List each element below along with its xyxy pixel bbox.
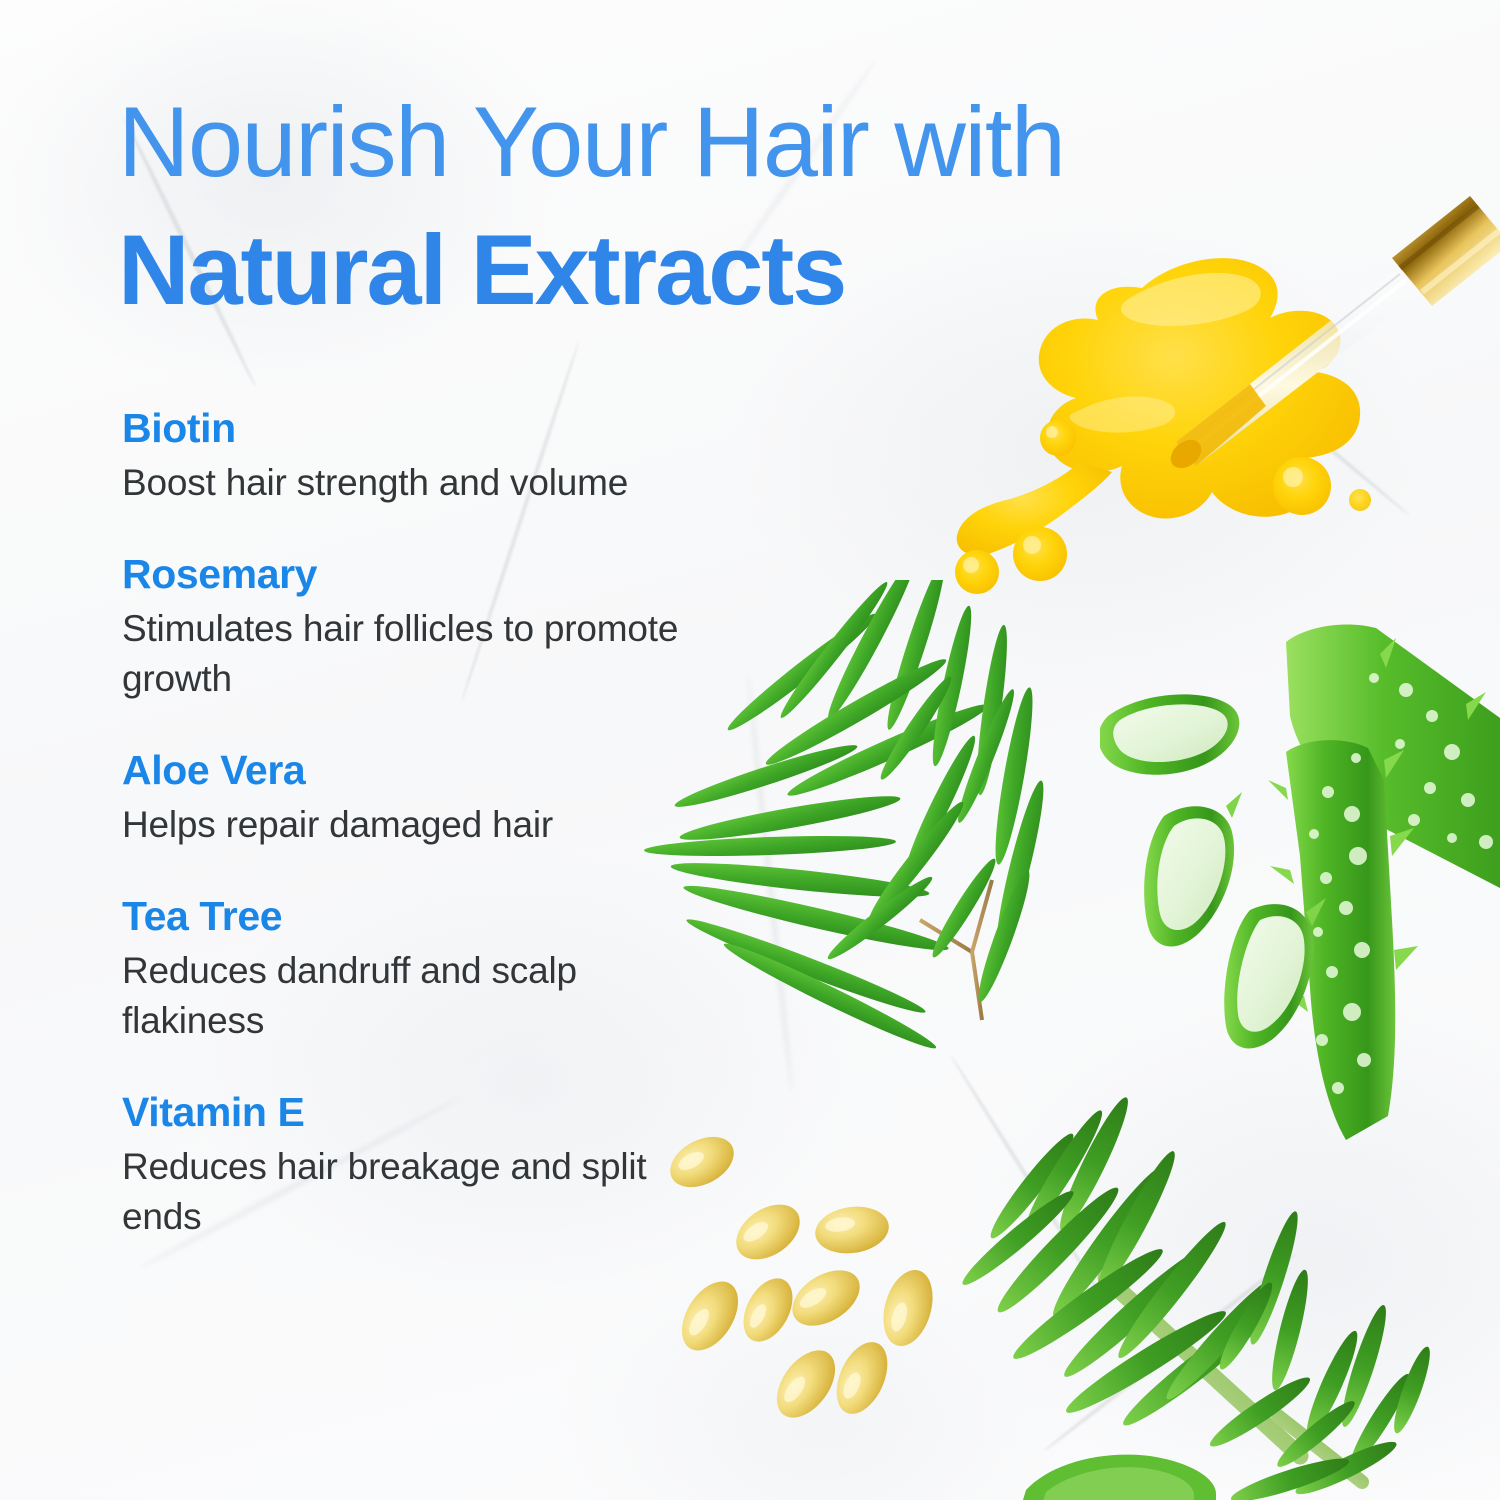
ingredient-description: Reduces dandruff and scalp flakiness — [122, 946, 682, 1046]
ingredient-item-tea-tree: Tea Tree Reduces dandruff and scalp flak… — [122, 890, 682, 1046]
infographic-canvas: Nourish Your Hair with Natural Extracts … — [0, 0, 1500, 1500]
ingredient-item-biotin: Biotin Boost hair strength and volume — [122, 402, 682, 508]
ingredient-name: Vitamin E — [122, 1086, 682, 1138]
ingredient-name: Rosemary — [122, 548, 682, 600]
ingredient-name: Tea Tree — [122, 890, 682, 942]
ingredient-item-vitamin-e: Vitamin E Reduces hair breakage and spli… — [122, 1086, 682, 1242]
headline-line-1: Nourish Your Hair with — [118, 78, 1318, 206]
ingredient-name: Biotin — [122, 402, 682, 454]
headline-line-2: Natural Extracts — [118, 206, 1318, 334]
ingredient-description: Helps repair damaged hair — [122, 800, 682, 850]
ingredient-description: Boost hair strength and volume — [122, 458, 682, 508]
page-title: Nourish Your Hair with Natural Extracts — [118, 78, 1318, 334]
ingredient-description: Reduces hair breakage and split ends — [122, 1142, 682, 1242]
ingredient-item-rosemary: Rosemary Stimulates hair follicles to pr… — [122, 548, 682, 704]
ingredient-list: Biotin Boost hair strength and volume Ro… — [122, 402, 682, 1242]
ingredient-description: Stimulates hair follicles to promote gro… — [122, 604, 682, 704]
ingredient-item-aloe-vera: Aloe Vera Helps repair damaged hair — [122, 744, 682, 850]
ingredient-name: Aloe Vera — [122, 744, 682, 796]
